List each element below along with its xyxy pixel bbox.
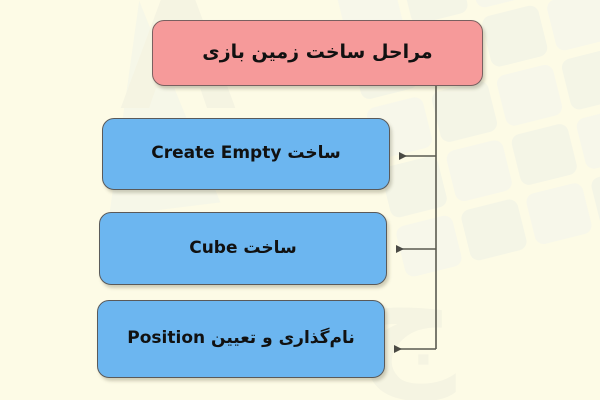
node-step-1-label: ساخت Create Empty xyxy=(151,143,340,164)
node-title[interactable]: مراحل ساخت زمین بازی xyxy=(152,20,483,86)
node-step-1[interactable]: ساخت Create Empty xyxy=(102,118,390,190)
node-step-2[interactable]: ساخت Cube xyxy=(99,212,387,285)
node-step-3-label: نام‌گذاری و تعیین Position xyxy=(127,328,354,349)
diagram-canvas: A ج مراحل ساخت زمین بازی xyxy=(0,0,600,400)
node-step-3[interactable]: نام‌گذاری و تعیین Position xyxy=(97,300,385,378)
node-step-2-label: ساخت Cube xyxy=(189,238,297,259)
node-title-label: مراحل ساخت زمین بازی xyxy=(202,41,432,65)
